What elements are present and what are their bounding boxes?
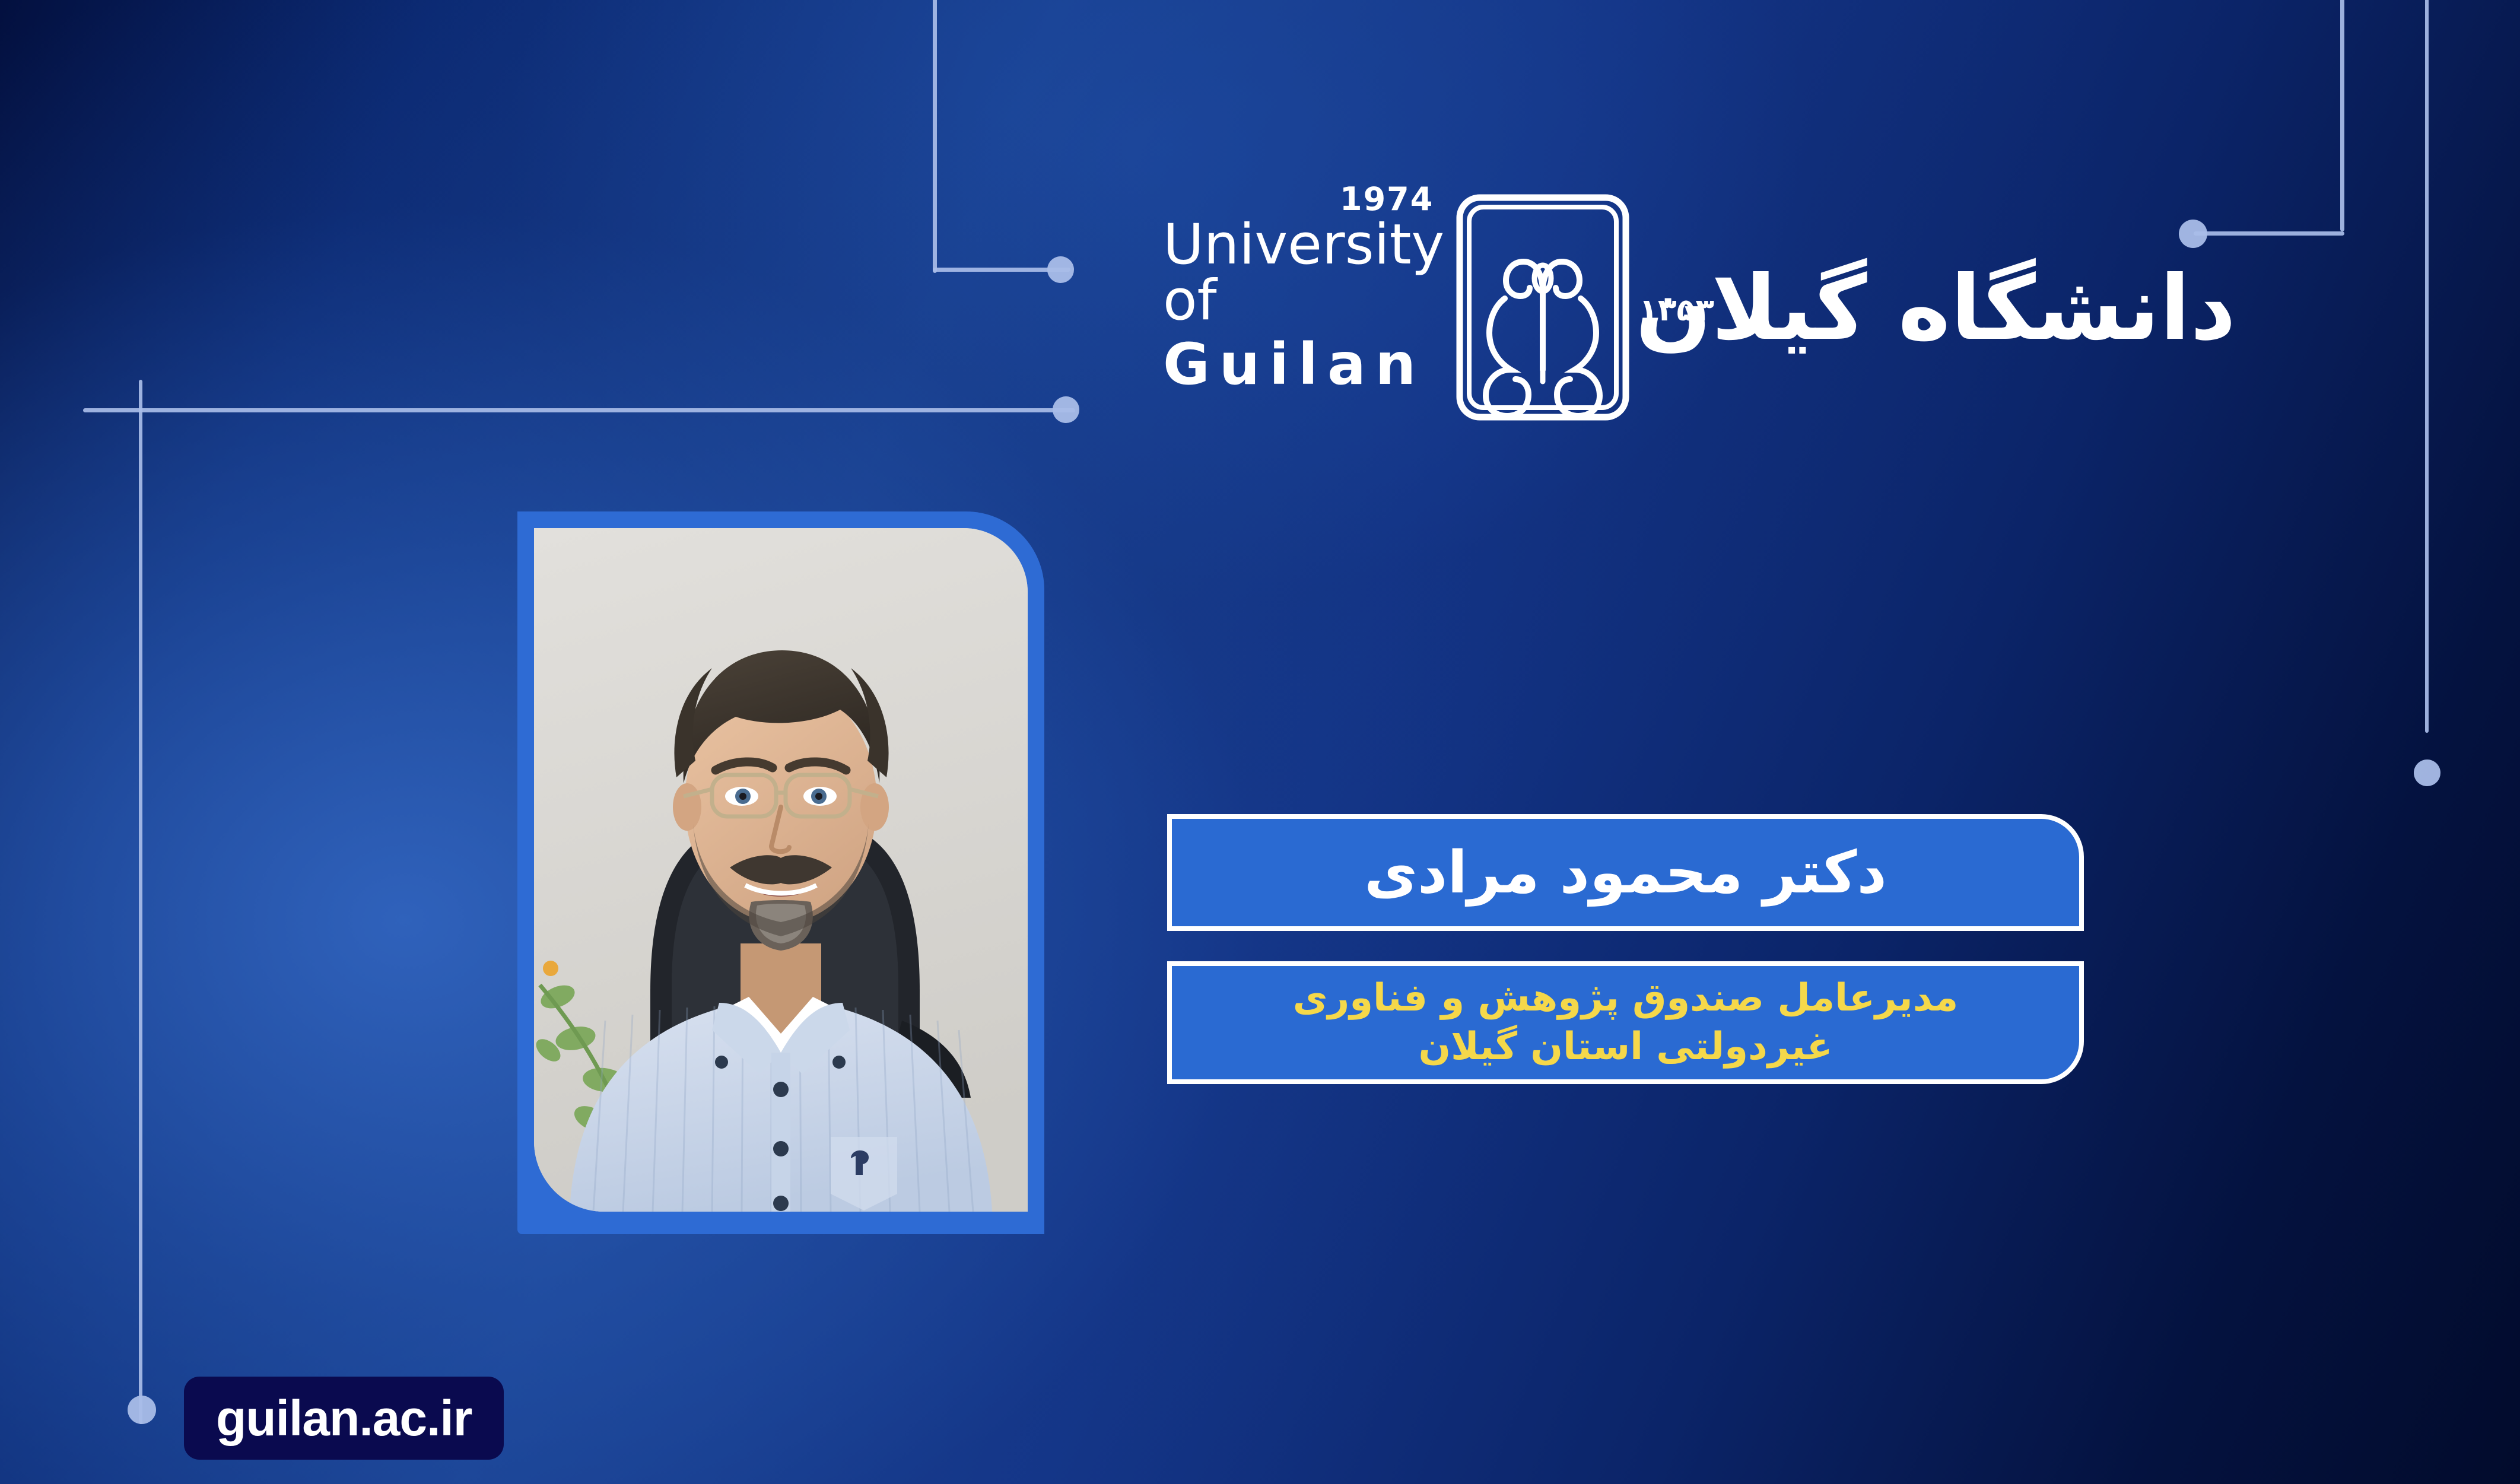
person-role-line1: مدیرعامل صندوق پژوهش و فناوری bbox=[1293, 974, 1959, 1023]
decor-dot-far-right bbox=[2414, 760, 2440, 786]
decor-dot-top-left bbox=[1047, 256, 1074, 283]
decor-vertical-line-top-left bbox=[933, 0, 937, 273]
person-role: مدیرعامل صندوق پژوهش و فناوری غیردولتی ا… bbox=[1269, 974, 1982, 1072]
decor-dot-bottom-left bbox=[128, 1396, 156, 1424]
banner-canvas: 1974 University of Guilan ۱۳۵۳ دانشگاه گ… bbox=[0, 0, 2520, 1484]
portrait-photo bbox=[534, 528, 1028, 1212]
guilan-university-emblem-icon bbox=[1454, 192, 1632, 425]
logo-persian-name: دانشگاه گیلان bbox=[1635, 264, 2236, 353]
portrait-frame bbox=[517, 511, 1044, 1234]
logo-year-persian: ۱۳۵۳ bbox=[1639, 293, 1714, 328]
person-name: دکتر محمود مرادی bbox=[1364, 844, 1887, 902]
logo-english-line1: University of bbox=[1163, 217, 1444, 329]
decor-horizontal-line-top-right bbox=[2194, 231, 2344, 236]
logo-persian-block: ۱۳۵۳ دانشگاه گیلان bbox=[1635, 264, 2313, 353]
decor-dot-top-right bbox=[2179, 220, 2207, 248]
logo-year-gregorian: 1974 bbox=[1340, 180, 1434, 218]
website-url-text: guilan.ac.ir bbox=[216, 1390, 472, 1447]
logo-english-block: 1974 University of Guilan bbox=[1163, 217, 1444, 400]
person-role-line2: غیردولتی استان گیلان bbox=[1293, 1023, 1959, 1072]
decor-dot-left-end bbox=[1053, 396, 1079, 423]
person-role-badge: مدیرعامل صندوق پژوهش و فناوری غیردولتی ا… bbox=[1167, 961, 2084, 1084]
person-name-badge: دکتر محمود مرادی bbox=[1167, 814, 2084, 931]
decor-vertical-line-left bbox=[139, 380, 142, 1424]
university-logo: 1974 University of Guilan ۱۳۵۳ دانشگاه گ… bbox=[1163, 190, 2089, 427]
decor-horizontal-line-left bbox=[83, 408, 1075, 412]
decor-vertical-line-far-right bbox=[2425, 0, 2429, 733]
website-url-badge[interactable]: guilan.ac.ir bbox=[184, 1377, 504, 1460]
logo-english-line2: Guilan bbox=[1163, 329, 1425, 400]
decor-vertical-line-top-right bbox=[2340, 0, 2344, 231]
